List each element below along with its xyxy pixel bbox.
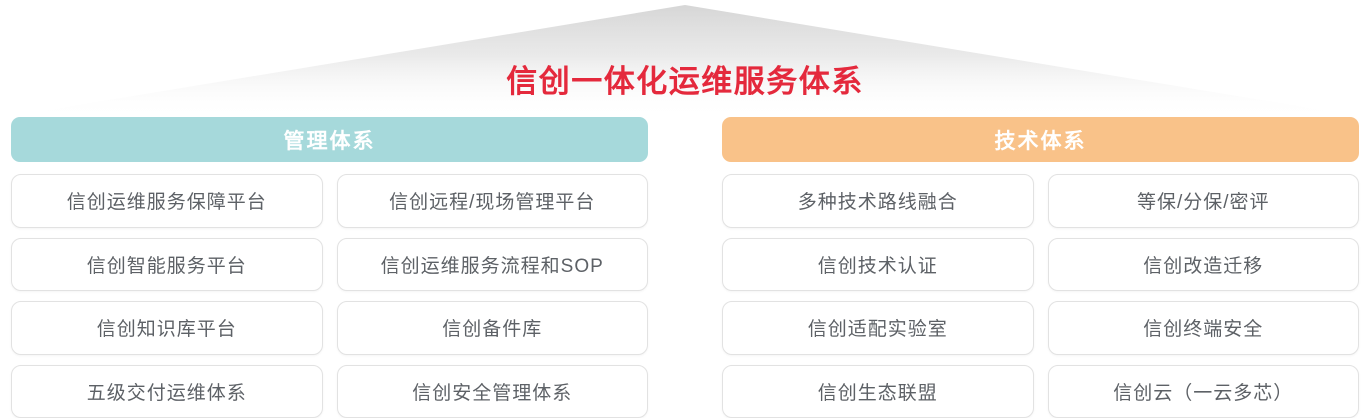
cell-technology-1-3[interactable]: 信创适配实验室 (722, 301, 1034, 355)
cell-management-1-3[interactable]: 信创知识库平台 (11, 301, 323, 355)
cell-management-2-1[interactable]: 信创远程/现场管理平台 (337, 174, 649, 228)
cell-technology-2-2[interactable]: 信创改造迁移 (1048, 238, 1360, 292)
cell-technology-1-1[interactable]: 多种技术路线融合 (722, 174, 1034, 228)
cell-technology-2-3[interactable]: 信创终端安全 (1048, 301, 1360, 355)
panel-management: 管理体系 信创运维服务保障平台 信创远程/现场管理平台 信创智能服务平台 信创运… (11, 117, 648, 418)
cell-management-2-3[interactable]: 信创备件库 (337, 301, 649, 355)
cell-management-1-1[interactable]: 信创运维服务保障平台 (11, 174, 323, 228)
cell-technology-1-2[interactable]: 信创技术认证 (722, 238, 1034, 292)
panel-grid-technology: 多种技术路线融合 等保/分保/密评 信创技术认证 信创改造迁移 信创适配实验室 … (722, 174, 1359, 418)
cell-management-2-4[interactable]: 信创安全管理体系 (337, 365, 649, 418)
cell-technology-1-4[interactable]: 信创生态联盟 (722, 365, 1034, 418)
panel-technology: 技术体系 多种技术路线融合 等保/分保/密评 信创技术认证 信创改造迁移 信创适… (722, 117, 1359, 418)
cell-technology-2-1[interactable]: 等保/分保/密评 (1048, 174, 1360, 228)
cell-management-2-2[interactable]: 信创运维服务流程和SOP (337, 238, 649, 292)
systems-container: 管理体系 信创运维服务保障平台 信创远程/现场管理平台 信创智能服务平台 信创运… (0, 117, 1370, 418)
panel-header-management: 管理体系 (11, 117, 648, 162)
cell-management-1-2[interactable]: 信创智能服务平台 (11, 238, 323, 292)
cell-technology-2-4[interactable]: 信创云（一云多芯） (1048, 365, 1360, 418)
page-title: 信创一体化运维服务体系 (0, 56, 1370, 101)
cell-management-1-4[interactable]: 五级交付运维体系 (11, 365, 323, 418)
panel-grid-management: 信创运维服务保障平台 信创远程/现场管理平台 信创智能服务平台 信创运维服务流程… (11, 174, 648, 418)
panel-header-technology: 技术体系 (722, 117, 1359, 162)
